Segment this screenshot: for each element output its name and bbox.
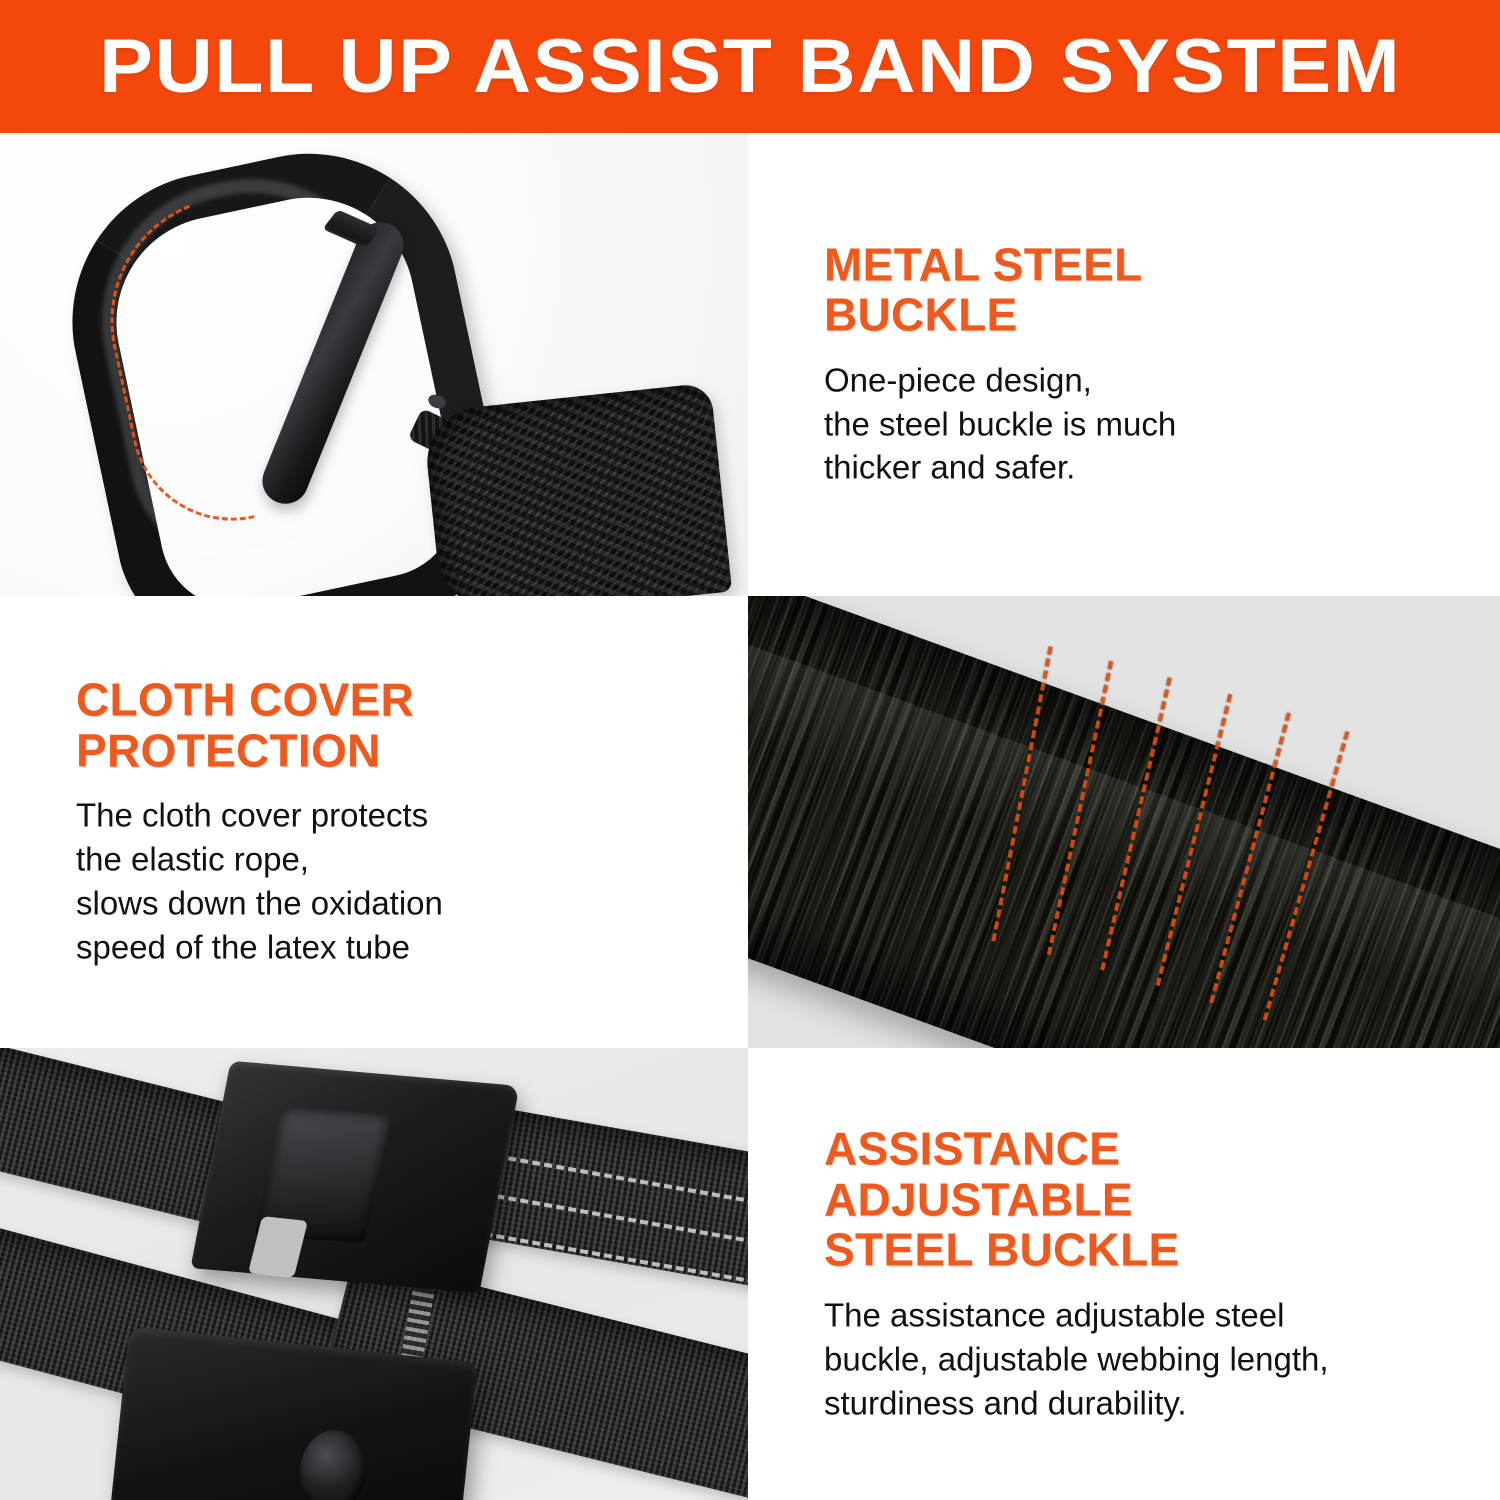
metal-steel-buckle-description: One-piece design, the steel buckle is mu…: [824, 358, 1470, 490]
carabiner-illustration: [60, 151, 680, 581]
carabiner-photo: [0, 133, 748, 596]
carabiner-photo-cell: [0, 133, 748, 596]
assistance-buckle-textblock: ASSISTANCE ADJUSTABLE STEEL BUCKLE The a…: [824, 1123, 1470, 1424]
assistance-buckle-description: The assistance adjustable steel buckle, …: [824, 1293, 1470, 1425]
cloth-sleeve-photo-cell: [748, 596, 1500, 1048]
cloth-cover-textblock: CLOTH COVER PROTECTION The cloth cover p…: [76, 675, 718, 970]
cloth-cover-text-cell: CLOTH COVER PROTECTION The cloth cover p…: [0, 596, 748, 1048]
carabiner-webbing-loop: [422, 382, 732, 596]
page-title: PULL UP ASSIST BAND SYSTEM: [99, 29, 1401, 105]
assistance-buckle-text-cell: ASSISTANCE ADJUSTABLE STEEL BUCKLE The a…: [748, 1048, 1500, 1500]
metal-steel-buckle-text-cell: METAL STEEL BUCKLE One-piece design, the…: [748, 133, 1500, 596]
cloth-sleeve-photo: [748, 596, 1500, 1048]
metal-steel-buckle-heading: METAL STEEL BUCKLE: [824, 239, 1470, 340]
infographic-page: PULL UP ASSIST BAND SYSTEM METAL STE: [0, 0, 1500, 1500]
cam-buckle-photo-cell: [0, 1048, 748, 1500]
assistance-buckle-heading: ASSISTANCE ADJUSTABLE STEEL BUCKLE: [824, 1123, 1470, 1275]
cloth-sleeve-tube: [748, 596, 1500, 1048]
feature-grid: METAL STEEL BUCKLE One-piece design, the…: [0, 133, 1500, 1500]
cloth-cover-description: The cloth cover protects the elastic rop…: [76, 794, 718, 970]
header-banner: PULL UP ASSIST BAND SYSTEM: [0, 0, 1500, 133]
cloth-cover-heading: CLOTH COVER PROTECTION: [76, 675, 718, 776]
metal-steel-buckle-textblock: METAL STEEL BUCKLE One-piece design, the…: [824, 239, 1470, 490]
cam-buckle-photo: [0, 1048, 748, 1500]
